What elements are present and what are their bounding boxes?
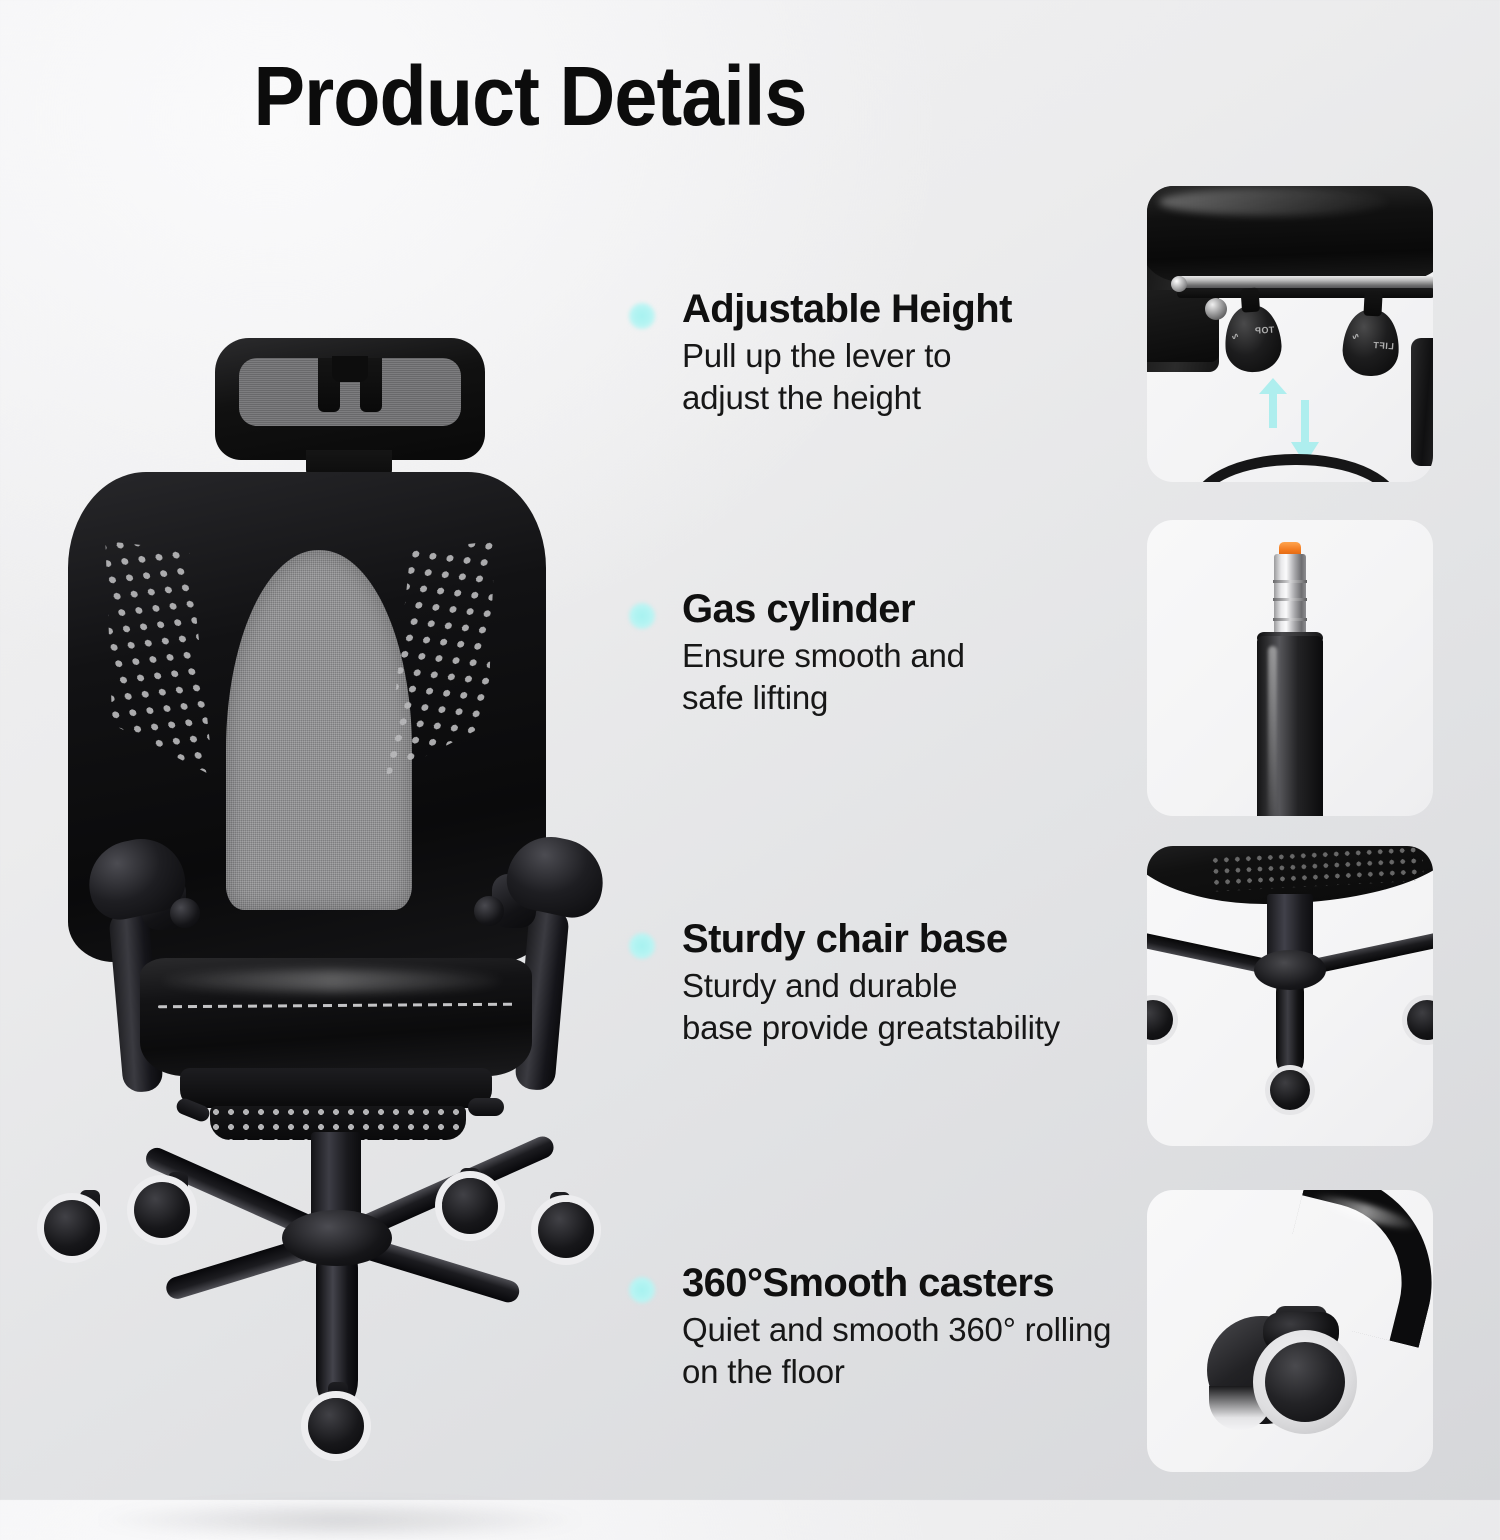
feature-sturdy-chair-base: Sturdy chair base Sturdy and durable bas… [628, 918, 1060, 1049]
lever-top[interactable]: ∿ TOP [1223, 304, 1283, 374]
armrest-hinge-left [170, 898, 200, 928]
feature-adjustable-height: Adjustable Height Pull up the lever to a… [628, 288, 1012, 419]
caster-1 [134, 1182, 190, 1238]
lever-label: LIFT [1373, 340, 1395, 351]
feature-heading: Sturdy chair base [682, 918, 1060, 960]
feature-body: Sturdy and durable base provide greatsta… [682, 965, 1060, 1048]
lever-stem [1240, 287, 1260, 312]
lever-glyph-icon: ∿ [1231, 331, 1240, 342]
tilt-knob [468, 1098, 504, 1116]
caster-5 [308, 1398, 364, 1454]
feature-body: Pull up the lever to adjust the height [682, 335, 1012, 418]
lever-lift[interactable]: ∿ LIFT [1341, 309, 1400, 378]
cyan-dot-icon [628, 602, 656, 630]
seat-underside-highlight [1159, 188, 1389, 216]
base-arc [1191, 454, 1401, 482]
feature-body-line: adjust the height [682, 377, 1012, 419]
base-caster-front [1270, 1070, 1310, 1110]
infographic-canvas: Product Details [0, 0, 1500, 1500]
chair-floor-shadow [90, 1500, 590, 1540]
caster-3 [44, 1200, 100, 1256]
lever-glyph-icon: ∿ [1351, 331, 1360, 343]
crossbar-end-cap [1171, 276, 1187, 292]
gas-cylinder-photo [1147, 520, 1433, 816]
lever-label: TOP [1254, 325, 1274, 336]
mechanism-rail [1177, 288, 1433, 298]
shaft-ring-3 [1273, 618, 1307, 621]
cylinder-body [1257, 636, 1323, 816]
caster-4 [538, 1202, 594, 1258]
lever-stem [1363, 292, 1382, 317]
cyan-dot-icon [628, 1276, 656, 1304]
caster-2 [442, 1178, 498, 1234]
feature-body-line: Sturdy and durable [682, 965, 1060, 1007]
chair-post-right [1411, 338, 1433, 466]
feature-gas-cylinder: Gas cylinder Ensure smooth and safe lift… [628, 588, 965, 719]
feature-heading: Gas cylinder [682, 588, 965, 630]
office-chair-photo [30, 320, 630, 1320]
mechanism-bolt [1205, 298, 1227, 320]
chair-base-underside-photo [1147, 846, 1433, 1146]
feature-body-line: Ensure smooth and [682, 635, 965, 677]
caster-front-wheel [1253, 1330, 1357, 1434]
feature-heading: Adjustable Height [682, 288, 1012, 330]
base-hub [282, 1210, 392, 1266]
shaft-ring-1 [1273, 580, 1307, 583]
feature-body-line: Quiet and smooth 360° rolling [682, 1309, 1111, 1351]
arrow-up-icon [1259, 378, 1287, 428]
feature-smooth-casters: 360°Smooth casters Quiet and smooth 360°… [628, 1262, 1111, 1393]
feature-body: Quiet and smooth 360° rolling on the flo… [682, 1309, 1111, 1392]
base-caster-left [1147, 1000, 1173, 1040]
caster-wheel-photo [1147, 1190, 1433, 1472]
cyan-dot-icon [628, 932, 656, 960]
base-caster-right [1407, 1000, 1433, 1040]
page-title: Product Details [42, 48, 1017, 145]
feature-body: Ensure smooth and safe lifting [682, 635, 965, 718]
feature-heading: 360°Smooth casters [682, 1262, 1111, 1304]
cyan-dot-icon [628, 302, 656, 330]
seat-highlight [162, 970, 502, 992]
shaft-ring-2 [1273, 598, 1307, 601]
seat-mechanism [180, 1068, 492, 1108]
cylinder-highlight [1268, 646, 1277, 816]
feature-body-line: Pull up the lever to [682, 335, 1012, 377]
armrest-hinge-right [474, 896, 504, 926]
feature-body-line: base provide greatstability [682, 1007, 1060, 1049]
cylinder-piston-shaft [1274, 554, 1306, 640]
base-center-hub [1254, 950, 1326, 990]
seat-underside-levers-photo: ∿ TOP ∿ LIFT [1147, 186, 1433, 482]
headrest-bridge [332, 356, 368, 382]
feature-body-line: on the floor [682, 1351, 1111, 1393]
feature-body-line: safe lifting [682, 677, 965, 719]
